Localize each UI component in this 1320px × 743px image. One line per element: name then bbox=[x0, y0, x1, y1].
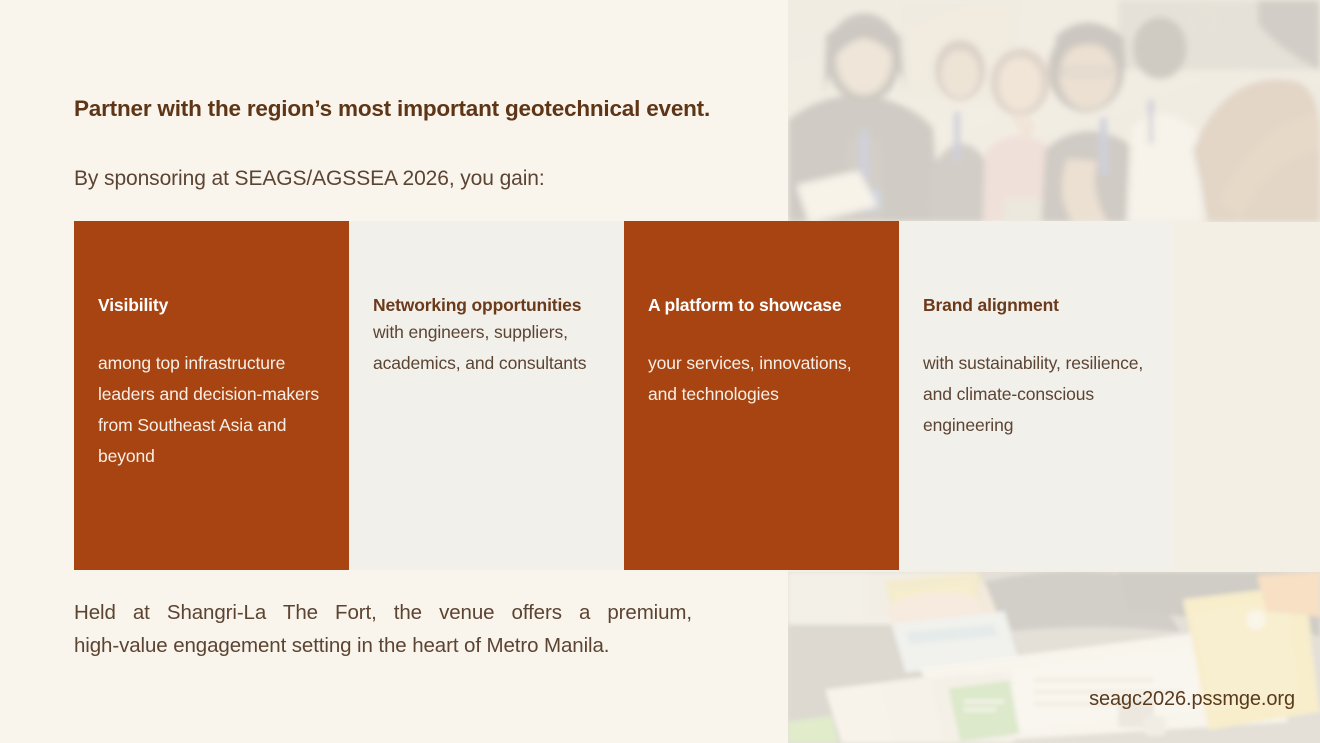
benefit-panel-body: your services, innovations, and technolo… bbox=[648, 348, 874, 410]
benefit-panel-title: Networking opportunities bbox=[373, 295, 599, 317]
benefit-panel-title: Brand alignment bbox=[923, 295, 1149, 317]
subheading: By sponsoring at SEAGS/AGSSEA 2026, you … bbox=[74, 165, 774, 192]
benefit-panel-visibility: Visibility among top infrastructure lead… bbox=[74, 221, 349, 570]
benefit-panel-row: Visibility among top infrastructure lead… bbox=[74, 221, 1174, 570]
conference-attendees-networking-photo bbox=[788, 0, 1320, 222]
benefit-panel-networking: Networking opportunities with engineers,… bbox=[349, 221, 624, 570]
benefit-panel-title: A platform to showcase bbox=[648, 295, 874, 317]
benefit-panel-body: with sustainability, resilience, and cli… bbox=[923, 348, 1149, 441]
benefit-panel-title: Visibility bbox=[98, 295, 324, 317]
benefit-panel-body: with engineers, suppliers, academics, an… bbox=[373, 317, 599, 379]
benefit-panel-brand-alignment: Brand alignment with sustainability, res… bbox=[899, 221, 1174, 570]
venue-description-line-1: Held at Shangri-La The Fort, the venue o… bbox=[74, 596, 692, 629]
benefit-panel-showcase: A platform to showcase your services, in… bbox=[624, 221, 899, 570]
benefit-panel-body: among top infrastructure leaders and dec… bbox=[98, 348, 324, 473]
site-url[interactable]: seagc2026.pssmge.org bbox=[1089, 688, 1295, 711]
sponsorship-slide: Partner with the region’s most important… bbox=[0, 0, 1320, 743]
page-title: Partner with the region’s most important… bbox=[74, 95, 774, 122]
venue-description: Held at Shangri-La The Fort, the venue o… bbox=[74, 596, 692, 662]
venue-description-line-2: high-value engagement setting in the hea… bbox=[74, 629, 692, 662]
registration-desk-brochures-photo bbox=[788, 572, 1320, 743]
